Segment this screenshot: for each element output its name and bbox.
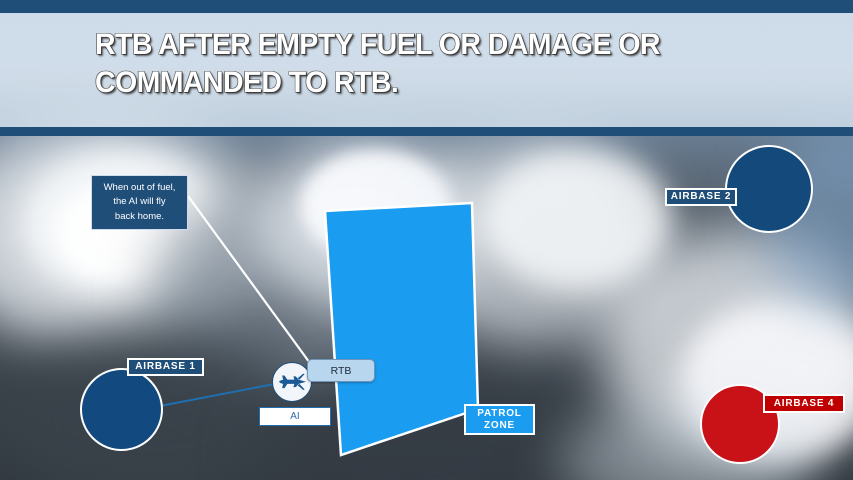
rtb-tooltip[interactable]: RTB [307, 359, 375, 382]
airbase-1-label: AIRBASE 1 [127, 358, 204, 376]
fighter-jet-icon[interactable] [272, 362, 312, 402]
airbase-4-label: AIRBASE 4 [763, 394, 845, 413]
fighter-jet-glyph [277, 367, 307, 397]
airbase-2-label: AIRBASE 2 [665, 188, 737, 206]
airbase-2-marker[interactable] [725, 145, 813, 233]
fuel-leader-line [188, 196, 315, 370]
patrol-zone-label: PATROL ZONE [464, 404, 535, 435]
airbase-1-marker[interactable] [80, 368, 163, 451]
fuel-callout-box: When out of fuel, the AI will fly back h… [91, 175, 188, 230]
slide-canvas: RTB AFTER EMPTY FUEL OR DAMAGE OR COMMAN… [0, 0, 853, 480]
page-title: RTB AFTER EMPTY FUEL OR DAMAGE OR COMMAN… [95, 26, 760, 103]
title-band-bottom-rule [0, 127, 853, 136]
patrol-zone-polygon[interactable] [325, 203, 478, 455]
top-accent-bar [0, 0, 853, 13]
rtb-route-line [160, 382, 285, 406]
ai-entity-label: AI [259, 407, 331, 426]
